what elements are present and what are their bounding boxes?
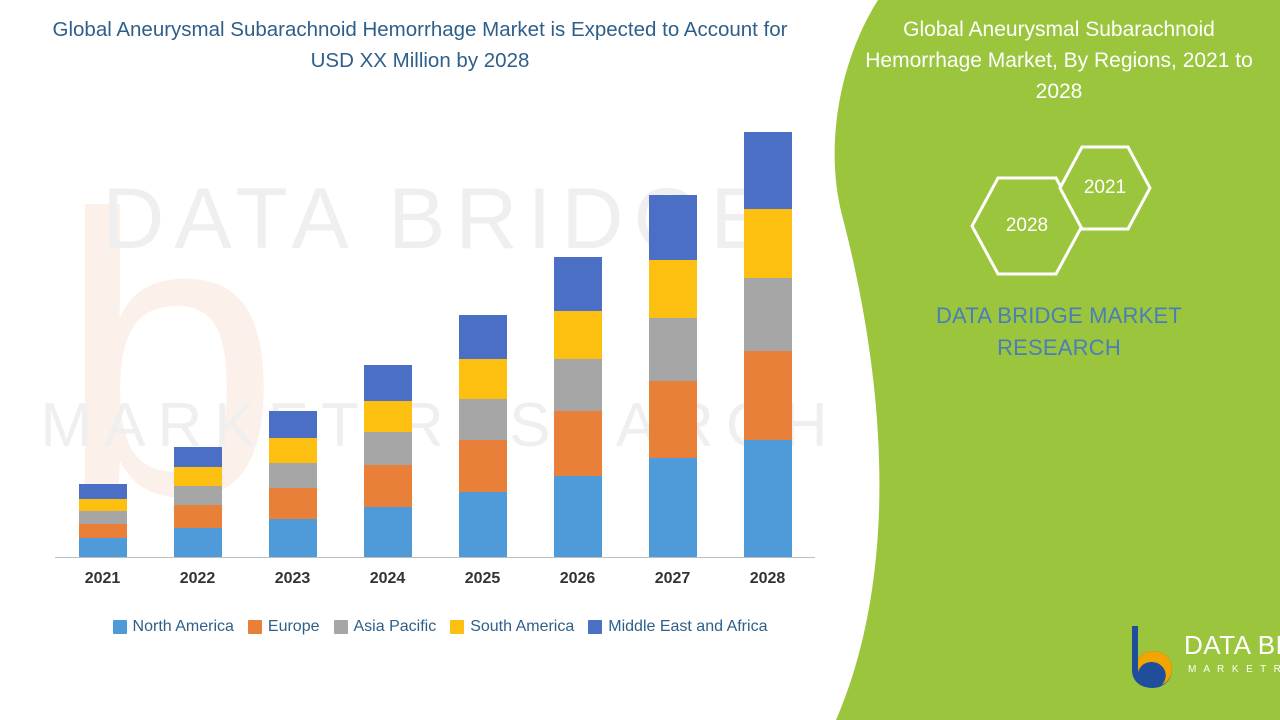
- x-axis-label: 2024: [348, 570, 428, 588]
- bar-segment: [459, 315, 507, 359]
- bar-group: [174, 447, 222, 558]
- bar-segment: [79, 524, 127, 539]
- x-axis-label: 2028: [728, 570, 808, 588]
- bar-group: [364, 365, 412, 557]
- bar-segment: [174, 486, 222, 505]
- bar-group: [744, 132, 792, 557]
- bar-segment: [174, 505, 222, 528]
- bar-segment: [554, 411, 602, 476]
- brand-text-line-1: DATA BRIDGE MARKET: [860, 300, 1258, 332]
- legend-label: Europe: [268, 618, 320, 636]
- legend-label: North America: [133, 618, 234, 636]
- bar-segment: [554, 359, 602, 411]
- bar-segment: [459, 440, 507, 492]
- legend-item[interactable]: Europe: [248, 618, 320, 636]
- bar-segment: [459, 492, 507, 557]
- chart-legend: North AmericaEuropeAsia PacificSouth Ame…: [45, 618, 835, 636]
- x-axis-line: [55, 557, 815, 558]
- logo-name: DATA BRIDGE: [1184, 630, 1280, 661]
- bar-segment: [744, 132, 792, 209]
- logo-subtitle: M A R K E T R E S E A R C H: [1188, 664, 1280, 675]
- legend-item[interactable]: Middle East and Africa: [588, 618, 767, 636]
- legend-swatch: [334, 620, 348, 634]
- bar-segment: [459, 359, 507, 399]
- bar-group: [554, 257, 602, 557]
- bar-segment: [174, 447, 222, 468]
- x-axis-label: 2021: [63, 570, 143, 588]
- bar-segment: [269, 411, 317, 438]
- bar-segment: [554, 476, 602, 557]
- legend-swatch: [450, 620, 464, 634]
- bar-segment: [649, 260, 697, 318]
- bar-segment: [364, 507, 412, 557]
- chart-title: Global Aneurysmal Subarachnoid Hemorrhag…: [40, 14, 800, 76]
- bar-segment: [649, 458, 697, 557]
- bar-segment: [744, 209, 792, 278]
- bar-group: [79, 484, 127, 557]
- bar-segment: [554, 311, 602, 359]
- bar-segment: [459, 399, 507, 441]
- brand-text-line-2: RESEARCH: [860, 332, 1258, 364]
- bar-segment: [364, 401, 412, 432]
- bar-segment: [79, 484, 127, 499]
- legend-swatch: [588, 620, 602, 634]
- legend-item[interactable]: South America: [450, 618, 574, 636]
- bar-segment: [649, 195, 697, 260]
- slide-root: Global Aneurysmal Subarachnoid Hemorrhag…: [0, 0, 1280, 720]
- bar-segment: [649, 381, 697, 458]
- bar-segment: [79, 499, 127, 512]
- bar-segment: [649, 318, 697, 381]
- hexagon-2021: 2021: [1056, 144, 1154, 232]
- hexagon-group: 2028 2021: [860, 148, 1270, 288]
- bar-segment: [364, 365, 412, 400]
- legend-label: Middle East and Africa: [608, 618, 767, 636]
- bar-segment: [79, 511, 127, 524]
- legend-label: Asia Pacific: [354, 618, 437, 636]
- bar-segment: [744, 351, 792, 441]
- bar-segment: [269, 438, 317, 463]
- x-axis-label: 2022: [158, 570, 238, 588]
- legend-item[interactable]: North America: [113, 618, 234, 636]
- legend-swatch: [113, 620, 127, 634]
- bar-segment: [269, 519, 317, 557]
- brand-text: DATA BRIDGE MARKET RESEARCH: [860, 300, 1258, 364]
- right-panel: Global Aneurysmal Subarachnoid Hemorrhag…: [860, 0, 1280, 720]
- x-axis-label: 2023: [253, 570, 333, 588]
- x-axis-label: 2025: [443, 570, 523, 588]
- bar-segment: [554, 257, 602, 311]
- legend-label: South America: [470, 618, 574, 636]
- logo-b-icon: [1118, 624, 1180, 690]
- bar-segment: [744, 278, 792, 351]
- bar-segment: [744, 440, 792, 557]
- bar-segment: [174, 528, 222, 557]
- data-bridge-logo: DATA BRIDGE M A R K E T R E S E A R C H: [1118, 622, 1280, 694]
- bar-segment: [269, 463, 317, 488]
- bar-segment: [174, 467, 222, 486]
- legend-item[interactable]: Asia Pacific: [334, 618, 437, 636]
- legend-swatch: [248, 620, 262, 634]
- panel-title: Global Aneurysmal Subarachnoid Hemorrhag…: [860, 14, 1258, 107]
- bar-group: [459, 315, 507, 557]
- x-axis-labels: 20212022202320242025202620272028: [55, 570, 815, 596]
- bar-group: [269, 411, 317, 557]
- bar-segment: [364, 432, 412, 465]
- x-axis-label: 2026: [538, 570, 618, 588]
- hexagon-2028-label: 2028: [1006, 215, 1048, 237]
- bar-segment: [79, 538, 127, 557]
- hexagon-2021-label: 2021: [1084, 177, 1126, 199]
- bar-segment: [364, 465, 412, 507]
- bar-segment: [269, 488, 317, 519]
- x-axis-label: 2027: [633, 570, 713, 588]
- bar-chart-plot: [55, 120, 815, 558]
- bar-group: [649, 195, 697, 557]
